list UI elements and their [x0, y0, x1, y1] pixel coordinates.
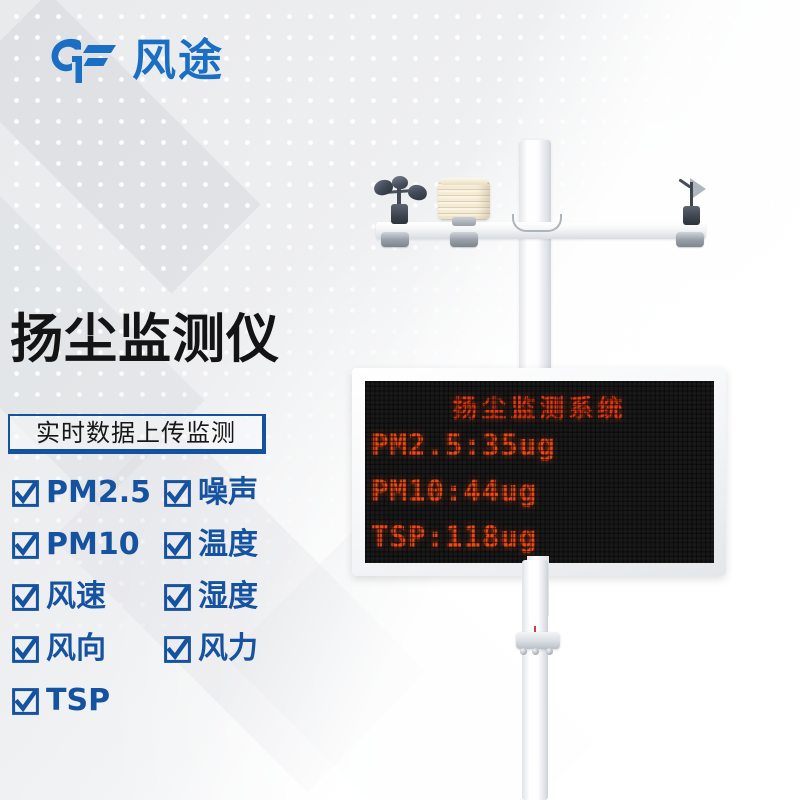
checkbox-checked-icon [164, 480, 191, 507]
page-title: 扬尘监测仪 [10, 312, 280, 368]
feature-item-wind-speed: 风速 [12, 582, 164, 612]
feature-item-humidity: 湿度 [164, 582, 294, 612]
checkbox-checked-icon [12, 480, 39, 507]
crossbar-clamp-icon [512, 214, 562, 232]
subtitle-text: 实时数据上传监测 [36, 421, 236, 445]
feature-item-tsp: TSP [12, 686, 164, 716]
anemometer-icon [372, 172, 434, 228]
feature-item-pm10: PM10 [12, 530, 164, 560]
product-banner: 扬尘监测系统 PM2.5:35ug PM10:44ug TSP:118ug 风途 [0, 0, 800, 800]
list-item: 风向 风力 [12, 634, 302, 686]
feature-item-temperature: 温度 [164, 530, 294, 560]
sensor-mount-icon [381, 232, 409, 247]
gf-cloud-logo-icon [48, 36, 122, 86]
feature-item-noise: 噪声 [164, 478, 294, 508]
bracket-bolt-icon [520, 648, 527, 655]
sensor-mount-icon [676, 232, 704, 247]
checkbox-checked-icon [164, 636, 191, 663]
feature-item-wind-direction: 风向 [12, 634, 164, 664]
list-item: TSP [12, 686, 302, 738]
feature-label: TSP [46, 686, 110, 716]
pole-bracket-icon [516, 632, 560, 649]
feature-label: 风速 [46, 582, 106, 612]
feature-label: 湿度 [198, 582, 258, 612]
sensor-mount-icon [450, 232, 478, 247]
brand-name: 风途 [132, 39, 224, 83]
feature-item-wind-force: 风力 [164, 634, 294, 664]
feature-label: PM10 [46, 530, 140, 560]
list-item: PM2.5 噪声 [12, 478, 302, 530]
checkbox-checked-icon [164, 584, 191, 611]
checkbox-checked-icon [12, 688, 39, 715]
feature-list: PM2.5 噪声 PM10 [12, 478, 302, 738]
mast-icon [519, 140, 551, 380]
bracket-bolt-icon [532, 648, 539, 655]
feature-label: 风力 [198, 634, 258, 664]
feature-item-pm25: PM2.5 [12, 478, 164, 508]
feature-label: PM2.5 [46, 478, 151, 508]
subtitle-box: 实时数据上传监测 [8, 414, 266, 454]
radiation-shield-icon [438, 180, 490, 228]
led-reading-line: PM10:44ug [371, 474, 537, 508]
feature-label: 噪声 [198, 478, 258, 508]
bracket-bolt-icon [546, 648, 553, 655]
led-reading-line: PM2.5:35ug [371, 428, 556, 462]
checkbox-checked-icon [12, 584, 39, 611]
mast-icon [522, 560, 548, 800]
list-item: PM10 温度 [12, 530, 302, 582]
wind-vane-icon [672, 176, 712, 228]
list-item: 风速 湿度 [12, 582, 302, 634]
checkbox-checked-icon [164, 532, 191, 559]
checkbox-checked-icon [12, 532, 39, 559]
led-screen: 扬尘监测系统 PM2.5:35ug PM10:44ug TSP:118ug [365, 381, 714, 563]
brand-logo: 风途 [48, 36, 224, 86]
led-reading-line: TSP:118ug [371, 520, 537, 554]
feature-label: 风向 [46, 634, 106, 664]
feature-label: 温度 [198, 530, 258, 560]
checkbox-checked-icon [12, 636, 39, 663]
led-header-text: 扬尘监测系统 [365, 389, 714, 425]
led-display-panel: 扬尘监测系统 PM2.5:35ug PM10:44ug TSP:118ug [352, 368, 726, 576]
